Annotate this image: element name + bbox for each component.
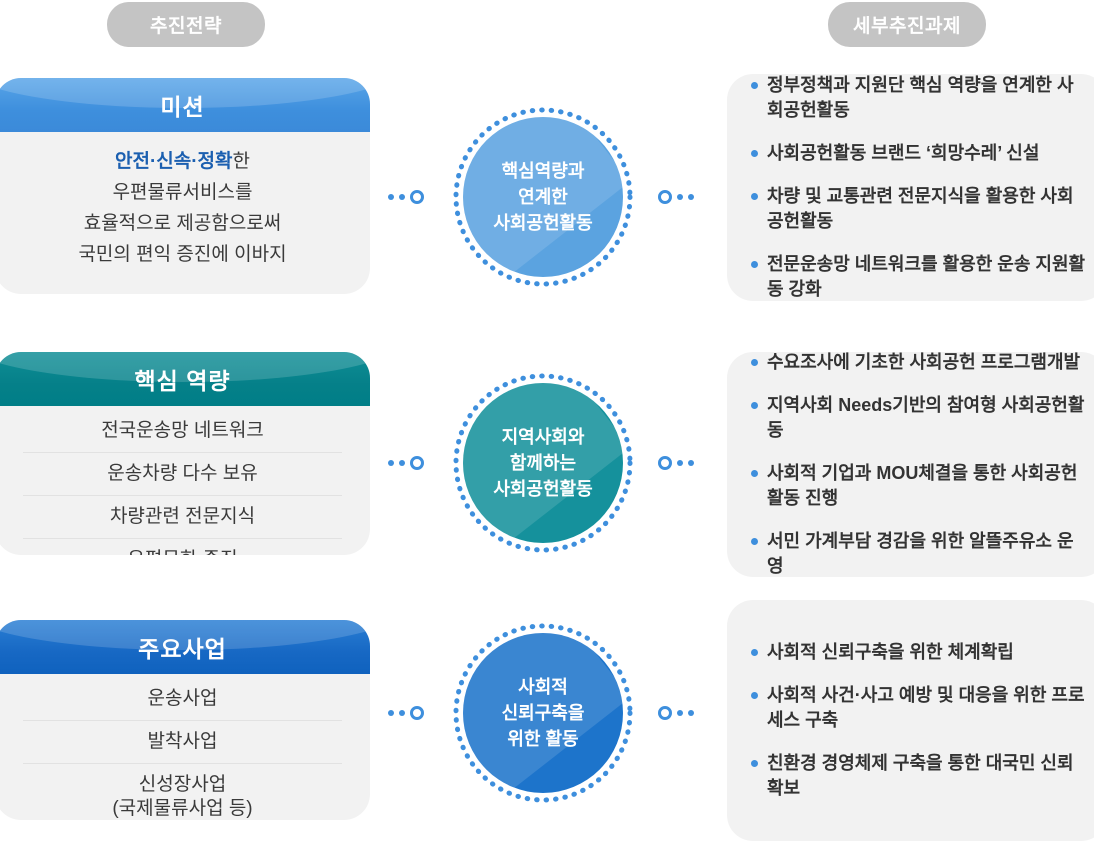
circle-body-main-business: 사회적 신뢰구축을 위한 활동 xyxy=(463,633,623,793)
connector-right-mission xyxy=(658,190,694,204)
circle-text-main-business: 사회적 신뢰구축을 위한 활동 xyxy=(502,674,585,752)
connector-dot-icon xyxy=(399,710,405,716)
connector-ring-icon xyxy=(410,190,424,204)
circle-line: 사회공헌활동 xyxy=(493,476,592,502)
card-header-main-business: 주요사업 xyxy=(0,620,370,674)
list-item: 우편문화 증진 xyxy=(23,538,342,555)
task-panel-mission: 정부정책과 지원단 핵심 역량을 연계한 사회공헌활동 사회공헌활동 브랜드 ‘… xyxy=(727,74,1094,301)
mission-accent-text: 안전·신속·정확 xyxy=(115,151,233,172)
circle-line: 신뢰구축을 xyxy=(502,700,585,726)
list-item-sub: (국제물류사업 등) xyxy=(23,797,342,820)
card-title-core-competency: 핵심 역량 xyxy=(134,362,230,396)
connector-dot-icon xyxy=(688,710,694,716)
strategy-card-core-competency: 핵심 역량 전국운송망 네트워크 운송차량 다수 보유 차량관련 전문지식 우편… xyxy=(0,352,370,555)
task-item: 서민 가계부담 경감을 위한 알뜰주유소 운영 xyxy=(749,529,1087,579)
circle-line: 핵심역량과 xyxy=(493,158,592,184)
card-list-core-competency: 전국운송망 네트워크 운송차량 다수 보유 차량관련 전문지식 우편문화 증진 xyxy=(0,406,370,555)
connector-dot-icon xyxy=(399,460,405,466)
mission-line-3: 국민의 편익 증진에 이바지 xyxy=(5,239,360,270)
connector-dot-icon xyxy=(388,460,394,466)
circle-text-core-competency: 지역사회와 함께하는 사회공헌활동 xyxy=(493,424,592,502)
connector-ring-icon xyxy=(410,706,424,720)
center-circle-mission: 핵심역량과 연계한 사회공헌활동 xyxy=(452,106,634,288)
mission-line-2: 효율적으로 제공함으로써 xyxy=(5,208,360,239)
strategy-card-main-business: 주요사업 운송사업 발착사업 신성장사업 (국제물류사업 등) xyxy=(0,620,370,820)
column-header-tasks: 세부추진과제 xyxy=(828,2,986,47)
task-item: 친환경 경영체제 구축을 통한 대국민 신뢰확보 xyxy=(749,751,1087,801)
connector-ring-icon xyxy=(658,456,672,470)
connector-dot-icon xyxy=(677,194,683,200)
connector-dot-icon xyxy=(388,194,394,200)
connector-dot-icon xyxy=(677,710,683,716)
task-item: 차량 및 교통관련 전문지식을 활용한 사회공헌활동 xyxy=(749,184,1087,234)
connector-dot-icon xyxy=(688,460,694,466)
task-item: 수요조사에 기초한 사회공헌 프로그램개발 xyxy=(749,350,1087,375)
connector-dot-icon xyxy=(399,194,405,200)
strategy-row-main-business: 주요사업 운송사업 발착사업 신성장사업 (국제물류사업 등) 사회적 신뢰구축… xyxy=(0,600,1094,832)
connector-left-main-business xyxy=(388,706,424,720)
connector-dot-icon xyxy=(677,460,683,466)
card-title-mission: 미션 xyxy=(160,88,204,122)
mission-line-0: 안전·신속·정확한 xyxy=(5,146,360,177)
connector-right-core-competency xyxy=(658,456,694,470)
circle-body-mission: 핵심역량과 연계한 사회공헌활동 xyxy=(463,117,623,277)
strategy-card-mission: 미션 안전·신속·정확한 우편물류서비스를 효율적으로 제공함으로써 국민의 편… xyxy=(0,78,370,294)
task-item: 전문운송망 네트워크를 활용한 운송 지원활동 강화 xyxy=(749,252,1087,302)
task-panel-core-competency: 수요조사에 기초한 사회공헌 프로그램개발 지역사회 Needs기반의 참여형 … xyxy=(727,352,1094,577)
connector-ring-icon xyxy=(658,706,672,720)
list-item: 운송차량 다수 보유 xyxy=(23,452,342,495)
circle-line: 사회공헌활동 xyxy=(493,210,592,236)
circle-line: 지역사회와 xyxy=(493,424,592,450)
card-header-mission: 미션 xyxy=(0,78,370,132)
circle-body-core-competency: 지역사회와 함께하는 사회공헌활동 xyxy=(463,383,623,543)
mission-statement: 안전·신속·정확한 우편물류서비스를 효율적으로 제공함으로써 국민의 편익 증… xyxy=(0,132,370,286)
connector-dot-icon xyxy=(688,194,694,200)
mission-line-1: 우편물류서비스를 xyxy=(5,177,360,208)
column-header-tasks-label: 세부추진과제 xyxy=(853,11,961,38)
circle-line: 함께하는 xyxy=(493,450,592,476)
task-panel-main-business: 사회적 신뢰구축을 위한 체계확립 사회적 사건·사고 예방 및 대응을 위한 … xyxy=(727,600,1094,841)
card-header-core-competency: 핵심 역량 xyxy=(0,352,370,406)
column-header-strategy-label: 추진전략 xyxy=(150,11,222,38)
task-item: 사회적 기업과 MOU체결을 통한 사회공헌 활동 진행 xyxy=(749,461,1087,511)
connector-left-core-competency xyxy=(388,456,424,470)
task-item: 정부정책과 지원단 핵심 역량을 연계한 사회공헌활동 xyxy=(749,73,1087,123)
list-item: 운송사업 xyxy=(23,678,342,720)
connector-ring-icon xyxy=(410,456,424,470)
list-item: 발착사업 xyxy=(23,720,342,763)
task-item: 사회적 신뢰구축을 위한 체계확립 xyxy=(749,640,1087,665)
connector-dot-icon xyxy=(388,710,394,716)
connector-right-main-business xyxy=(658,706,694,720)
connector-ring-icon xyxy=(658,190,672,204)
card-title-main-business: 주요사업 xyxy=(138,630,227,664)
center-circle-main-business: 사회적 신뢰구축을 위한 활동 xyxy=(452,622,634,804)
task-item: 사회적 사건·사고 예방 및 대응을 위한 프로세스 구축 xyxy=(749,683,1087,733)
circle-text-mission: 핵심역량과 연계한 사회공헌활동 xyxy=(493,158,592,236)
task-item: 사회공헌활동 브랜드 ‘희망수레’ 신설 xyxy=(749,141,1087,166)
column-header-strategy: 추진전략 xyxy=(107,2,265,47)
strategy-row-mission: 미션 안전·신속·정확한 우편물류서비스를 효율적으로 제공함으로써 국민의 편… xyxy=(0,78,1094,303)
list-item: 차량관련 전문지식 xyxy=(23,495,342,538)
strategy-row-core-competency: 핵심 역량 전국운송망 네트워크 운송차량 다수 보유 차량관련 전문지식 우편… xyxy=(0,352,1094,577)
center-circle-core-competency: 지역사회와 함께하는 사회공헌활동 xyxy=(452,372,634,554)
circle-line: 사회적 xyxy=(502,674,585,700)
mission-accent-tail: 한 xyxy=(233,151,250,172)
circle-line: 위한 활동 xyxy=(502,726,585,752)
connector-left-mission xyxy=(388,190,424,204)
list-item-main: 신성장사업 xyxy=(139,774,226,795)
circle-line: 연계한 xyxy=(493,184,592,210)
list-item: 전국운송망 네트워크 xyxy=(23,410,342,452)
card-list-main-business: 운송사업 발착사업 신성장사업 (국제물류사업 등) xyxy=(0,674,370,820)
task-item: 지역사회 Needs기반의 참여형 사회공헌활동 xyxy=(749,393,1087,443)
list-item: 신성장사업 (국제물류사업 등) xyxy=(23,763,342,820)
